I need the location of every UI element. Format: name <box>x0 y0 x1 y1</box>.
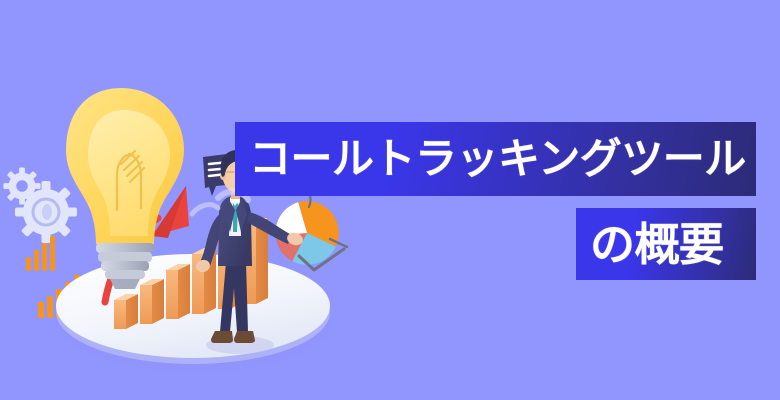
headline-band-main: コールトラッキングツール <box>235 122 756 196</box>
banner: コールトラッキングツール の概要 <box>0 0 780 400</box>
headline-sub-text: の概要 <box>590 222 724 267</box>
headline-main-text: コールトラッキングツール <box>249 138 746 180</box>
illustration <box>0 0 780 400</box>
headline-band-sub: の概要 <box>576 208 756 280</box>
